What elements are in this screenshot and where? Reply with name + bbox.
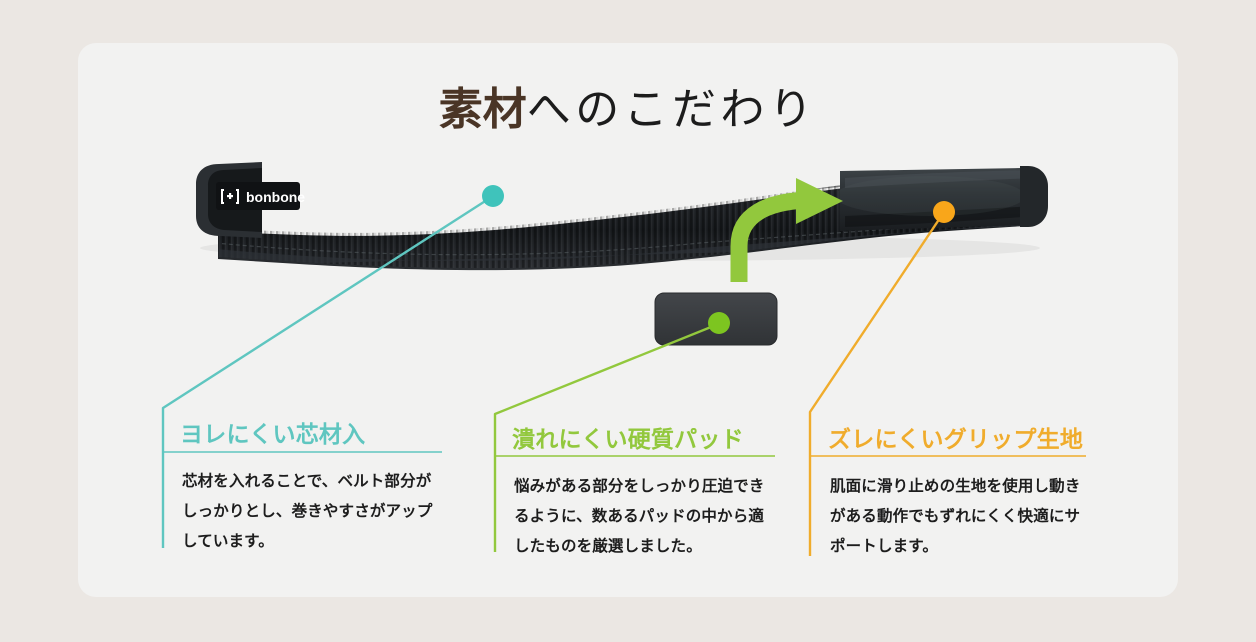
hard-pad-marker [708,312,730,334]
grip-fabric-marker [933,201,955,223]
feature-heading-core-material: ヨレにくい芯材入 [180,415,365,449]
feature-body-grip-fabric: 肌面に滑り止めの生地を使用し動きがある動作でもずれにくく快適にサポートします。 [830,472,1082,563]
feature-body-hard-pad: 悩みがある部分をしっかり圧迫できるように、数あるパッドの中から適したものを厳選し… [514,472,766,563]
core-material-marker [482,185,504,207]
feature-heading-hard-pad: 潰れにくい硬質パッド [512,420,744,454]
feature-body-core-material: 芯材を入れることで、ベルト部分がしっかりとし、巻きやすさがアップしています。 [182,467,434,558]
page-root: 素材へのこだわり [0,0,1256,642]
feature-heading-grip-fabric: ズレにくいグリップ生地 [828,420,1083,454]
